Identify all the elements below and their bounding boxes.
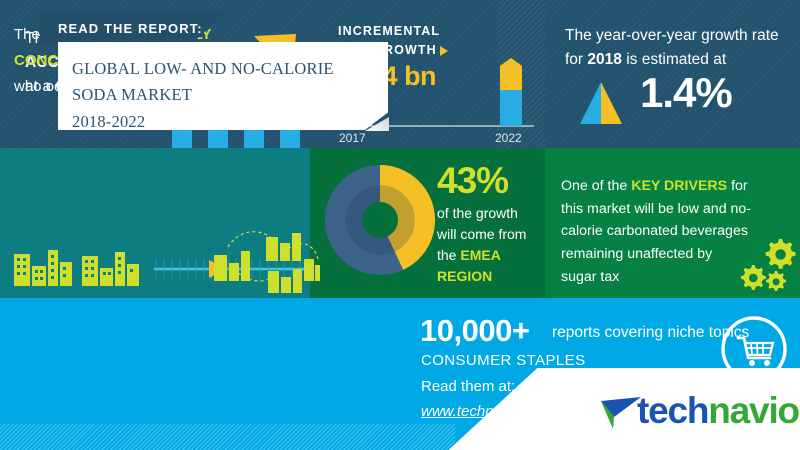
drivers-bold: KEY DRIVERS bbox=[631, 178, 727, 194]
triangle-growth-icon bbox=[578, 80, 624, 126]
infographic-canvas: The market will be ACCELERATING at a CAG… bbox=[0, 0, 800, 450]
emea-line2: will come from bbox=[437, 226, 526, 242]
donut-chart-icon bbox=[325, 165, 435, 275]
yoy-text-part3: is estimated at bbox=[622, 51, 726, 68]
emea-line1: of the growth bbox=[437, 205, 518, 221]
drivers-part1: One of the bbox=[561, 178, 631, 194]
drivers-line3: calorie carbonated beverages bbox=[561, 223, 748, 239]
report-title: GLOBAL LOW- AND NO-CALORIE SODA MARKET 2… bbox=[72, 56, 382, 135]
city-network-icon bbox=[206, 225, 321, 298]
logo-text-navio: navio bbox=[708, 390, 799, 431]
footer-texture bbox=[0, 424, 455, 450]
read-the-report-label: READ THE REPORT: bbox=[58, 21, 203, 36]
emea-percentage: 43% bbox=[437, 162, 508, 199]
emea-line3-part1: the bbox=[437, 247, 460, 263]
reports-count: 10,000+ bbox=[420, 315, 529, 346]
report-title-line2: 2018-2022 bbox=[72, 112, 145, 131]
read-them-at-label: Read them at: bbox=[421, 378, 515, 395]
logo-text-tech: tech bbox=[637, 390, 708, 431]
drivers-part2: for bbox=[727, 178, 748, 194]
technavio-wordmark: technavio bbox=[637, 392, 799, 429]
drivers-line2: this market will be low and no- bbox=[561, 201, 751, 217]
yoy-text-part2: for bbox=[565, 51, 587, 68]
emea-bold-emea: EMEA bbox=[460, 247, 500, 263]
drivers-line5: sugar tax bbox=[561, 269, 619, 285]
yoy-text-part1: The year-over-year growth rate bbox=[565, 27, 779, 44]
emea-statement: of the growth will come from the EMEA RE… bbox=[437, 203, 547, 287]
drivers-line4: remaining unaffected by bbox=[561, 246, 712, 262]
report-category: CONSUMER STAPLES bbox=[421, 352, 586, 369]
gears-icon bbox=[735, 237, 797, 295]
yoy-bold-2018: 2018 bbox=[587, 51, 621, 68]
incremental-title-line1: INCREMENTAL bbox=[338, 24, 440, 38]
yoy-value: 1.4% bbox=[640, 72, 732, 114]
triangle-right-icon bbox=[440, 46, 448, 56]
report-title-line1: GLOBAL LOW- AND NO-CALORIE SODA MARKET bbox=[72, 59, 334, 104]
yoy-statement: The year-over-year growth rate for 2018 … bbox=[565, 24, 795, 72]
axis-label-2022: 2022 bbox=[495, 131, 522, 145]
emea-bold-region: REGION bbox=[437, 268, 492, 284]
